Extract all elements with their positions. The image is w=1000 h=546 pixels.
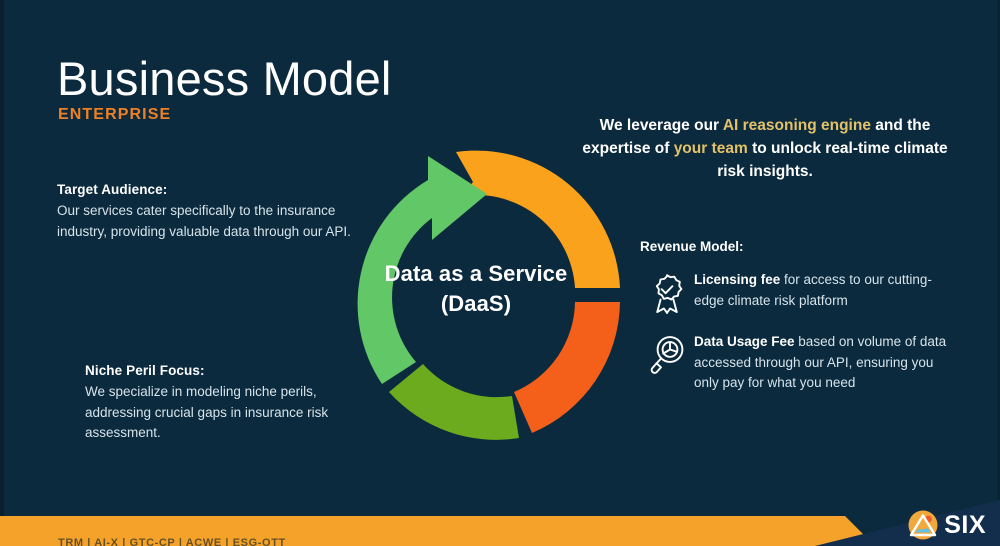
statement-highlight-your-team: your team	[674, 140, 748, 157]
revenue-model-block: Revenue Model: Licensing fee for access …	[640, 239, 960, 410]
footer-strip-text: TRM | AI-X | GTC-CP | ACWE | ESG-OTT	[58, 537, 286, 546]
statement-highlight-ai-engine: AI reasoning engine	[723, 117, 871, 134]
page-subtitle: ENTERPRISE	[58, 106, 171, 124]
statement-part-1: We leverage our	[600, 117, 723, 134]
target-audience-block: Target Audience: Our services cater spec…	[57, 182, 357, 242]
daas-cycle-diagram: Data as a Service (DaaS)	[316, 136, 636, 456]
revenue-item-data-usage-fee: Data Usage Fee based on volume of data a…	[640, 332, 960, 394]
magnifier-pie-chart-icon	[640, 332, 694, 378]
target-audience-heading: Target Audience:	[57, 182, 357, 197]
page-title: Business Model	[57, 50, 392, 108]
revenue-item-licensing-fee: Licensing fee for access to our cutting-…	[640, 270, 960, 316]
statement-part-3: to unlock real-time climate risk insight…	[717, 140, 947, 180]
revenue-item-licensing-fee-text: Licensing fee for access to our cutting-…	[694, 270, 960, 311]
six-logo: SIX	[906, 508, 986, 542]
award-ribbon-check-icon	[640, 270, 694, 316]
cycle-segment-bottom	[389, 364, 519, 440]
revenue-model-title: Revenue Model:	[640, 239, 960, 254]
six-logo-wordmark: SIX	[944, 513, 986, 538]
cycle-segment-left-arrow	[358, 156, 487, 384]
revenue-item-1-bold: Licensing fee	[694, 272, 780, 287]
slide-canvas: Business Model ENTERPRISE Target Audienc…	[0, 0, 1000, 546]
target-audience-body: Our services cater specifically to the i…	[57, 201, 357, 242]
revenue-item-data-usage-fee-text: Data Usage Fee based on volume of data a…	[694, 332, 960, 394]
value-statement: We leverage our AI reasoning engine and …	[575, 114, 955, 183]
six-logo-mark-icon	[906, 508, 940, 542]
cycle-segment-bottom-right	[514, 302, 620, 433]
revenue-item-2-bold: Data Usage Fee	[694, 334, 795, 349]
slide-left-edge	[0, 0, 4, 546]
